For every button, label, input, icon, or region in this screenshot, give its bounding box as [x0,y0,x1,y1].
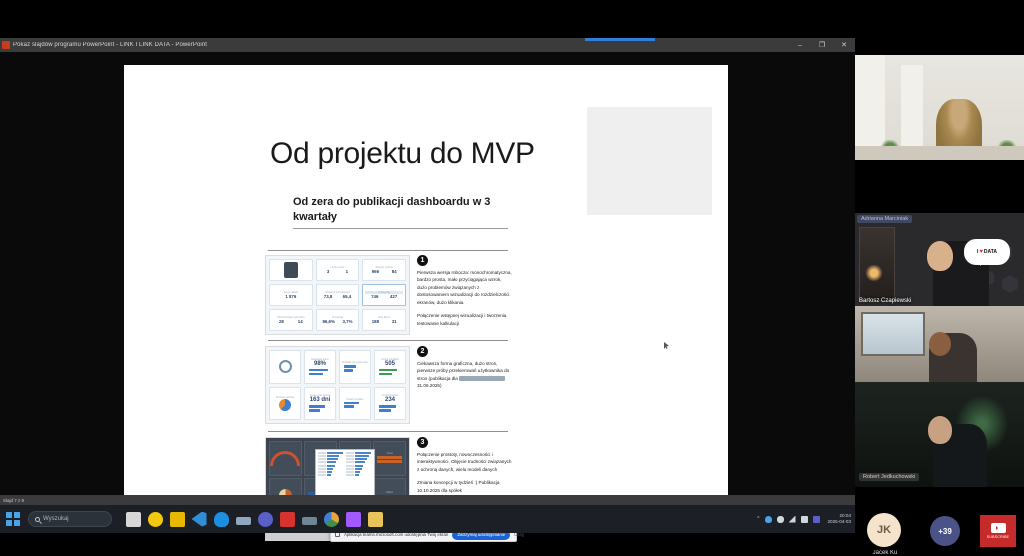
slide-subtitle: Od zera do publikacji dashboardu w 3 kwa… [293,195,513,225]
avatar[interactable]: JK [867,513,901,547]
teams-tray-icon[interactable] [813,516,820,523]
kpi-card [269,441,302,476]
lamp-decor [865,265,883,281]
step-description-1: Pierwsza wersja robocza: monochromatyczn… [417,269,512,327]
kpi-card: Realizacja planu 98% [304,350,336,384]
step-badge-1: 1 [417,255,428,266]
kpi-card: Średni czas obsługi 163 dni [304,387,336,421]
participants-avatar-strip: JK Jacek Ku +39 SUBSCRIBE [855,505,1024,556]
youtube-play-icon [991,523,1006,533]
video-tile-4[interactable]: Robert Jedkuchowski [855,382,1024,487]
participant-head [927,241,953,271]
kpi-card: Liczba umów 3 1 [316,259,360,281]
windows-taskbar: Wyszukaj ^ 20:04 2025-04-03 [0,505,855,533]
power-bi-icon[interactable] [148,512,163,527]
windows-start-icon[interactable] [6,512,20,526]
bubble-prefix: I [977,249,978,255]
video-tile-2[interactable]: I ♥ DATA Adrianna Marciniak Bartosz Czap… [855,213,1024,306]
microphone-icon[interactable] [777,516,784,523]
dashboard-thumbnail-1: Liczba umów 3 1 Wartość portfela 966 84 [265,255,410,335]
kpi-card: Kanały kontaktu [339,387,371,421]
figma-icon[interactable] [346,512,361,527]
window-tab-accent [585,38,655,41]
popup-column [318,452,344,501]
row-divider-2 [268,340,508,341]
chevron-up-icon[interactable]: ^ [757,516,759,522]
content-row-2: Realizacja planu 98% Rozkład wg segmentó… [265,346,510,426]
participant-head [928,416,952,444]
participant-name-chip: Adrianna Marciniak [857,215,912,223]
overflow-participants-badge[interactable]: +39 [930,516,960,546]
step-text-main: Połączenie prostoty, nowoczesności i int… [417,452,511,472]
slide-counter: Slajd 7 z 9 [3,498,24,503]
clock[interactable]: 20:04 2025-04-03 [828,513,852,525]
kpi-card: Rozkład wg segmentów [339,350,371,384]
step-text-secondary: Połączenie wstępnej wizualizacji i tworz… [417,313,506,325]
folder-icon[interactable] [368,512,383,527]
subtitle-underline [293,228,508,229]
video-participants-rail: I ♥ DATA Adrianna Marciniak Bartosz Czap… [855,0,1024,505]
teams-icon[interactable] [258,512,273,527]
kpi-card: Liczba transakcji 505 [374,350,406,384]
network-icon[interactable] [789,516,796,523]
dashboard-thumbnail-2: Realizacja planu 98% Rozkład wg segmentó… [265,346,410,424]
vscode-icon[interactable] [192,512,207,527]
file-explorer-icon[interactable] [126,512,141,527]
maximize-button[interactable]: ❐ [811,38,833,52]
system-tray: ^ 20:04 2025-04-03 [757,505,851,533]
kpi-card: Wskaźnik szkodowości 73,8 65,4 [316,284,360,306]
snowflake-icon[interactable] [280,512,295,527]
step-badge-2: 2 [417,346,428,357]
step-text-main: Pierwsza wersja robocza: monochromatyczn… [417,270,512,305]
kpi-card: Struktura portfela [269,387,301,421]
avatar-name: Jacek Ku [861,550,909,556]
popup-column [346,452,372,501]
kpi-card: Trend [373,441,406,476]
kpi-card [269,350,301,384]
step-text-secondary: Zmiana koncepcji w tydzień :) Publikacja… [417,480,499,492]
powerpoint-statusbar: Slajd 7 z 9 [0,495,855,505]
close-button[interactable]: ✕ [833,38,855,52]
onedrive-tray-icon[interactable] [765,516,772,523]
kpi-card: Liczba polis 746 427 [362,284,406,306]
text-gap [417,473,512,479]
clock-date: 2025-04-03 [828,519,852,525]
step-description-2: Ciekawsza forma graficzna, dużo stron, p… [417,360,512,390]
notepad-icon[interactable] [236,517,251,525]
search-input[interactable]: Wyszukaj [28,511,112,527]
slide-title: Od projektu do MVP [270,137,535,171]
speech-bubble: I ♥ DATA [964,239,1010,265]
subscribe-label: SUBSCRIBE [987,535,1010,539]
redacted-text [459,376,505,381]
powerpoint-canvas: Od projektu do MVP Od zera do publikacji… [0,52,855,505]
slide-placeholder-box [587,107,712,215]
video-tile-1[interactable] [855,55,1024,160]
window-controls: – ❐ ✕ [789,38,855,52]
kpi-card: Suma składki 1 876 [269,284,313,306]
bubble-label: DATA [984,249,997,255]
powerpoint-icon [2,41,10,49]
video-tile-3[interactable] [855,306,1024,382]
heart-icon: ♥ [979,249,983,255]
kpi-card: Konwersja 86,6% 3,7% [316,309,360,331]
kpi-card [269,259,313,281]
powerpoint-window: Pokaz slajdów programu PowerPoint - LINK… [0,38,855,505]
window-decor [861,312,925,356]
gauge-icon [270,451,300,466]
window-title: Pokaz slajdów programu PowerPoint - LINK… [13,42,207,48]
kpi-card: Liczba klientów 234 [374,387,406,421]
text-gap [417,306,512,312]
row-divider-1 [268,250,508,251]
search-icon [35,517,40,522]
participant-head [929,332,951,356]
volume-icon[interactable] [801,516,808,523]
step-description-3: Połączenie prostoty, nowoczesności i int… [417,451,512,494]
content-row-1: Liczba umów 3 1 Wartość portfela 966 84 [265,255,510,337]
shelf-decor [859,227,895,301]
kpi-card: Wartość portfela 966 84 [362,259,406,281]
row-divider-3 [268,431,508,432]
window-titlebar[interactable]: Pokaz slajdów programu PowerPoint - LINK… [0,38,855,52]
slide-surface: Od projektu do MVP Od zera do publikacji… [124,65,728,505]
step-text-secondary: 31.06.2025) [417,383,442,388]
onedrive-icon[interactable] [214,512,229,527]
participant-name: Bartosz Czapiewski [859,298,911,304]
search-placeholder: Wyszukaj [43,516,69,522]
subscribe-button[interactable]: SUBSCRIBE [980,515,1016,547]
minimize-button[interactable]: – [789,38,811,52]
participant-name: Robert Jedkuchowski [859,473,919,481]
step-badge-3: 3 [417,437,428,448]
excel-window-icon[interactable] [302,517,317,525]
power-bi-desktop-icon[interactable] [170,512,185,527]
kpi-card: Nowi klienci 188 31 [362,309,406,331]
kpi-card: Udział kanałów sprzedaży 28 14 [269,309,313,331]
chrome-icon[interactable] [324,512,339,527]
